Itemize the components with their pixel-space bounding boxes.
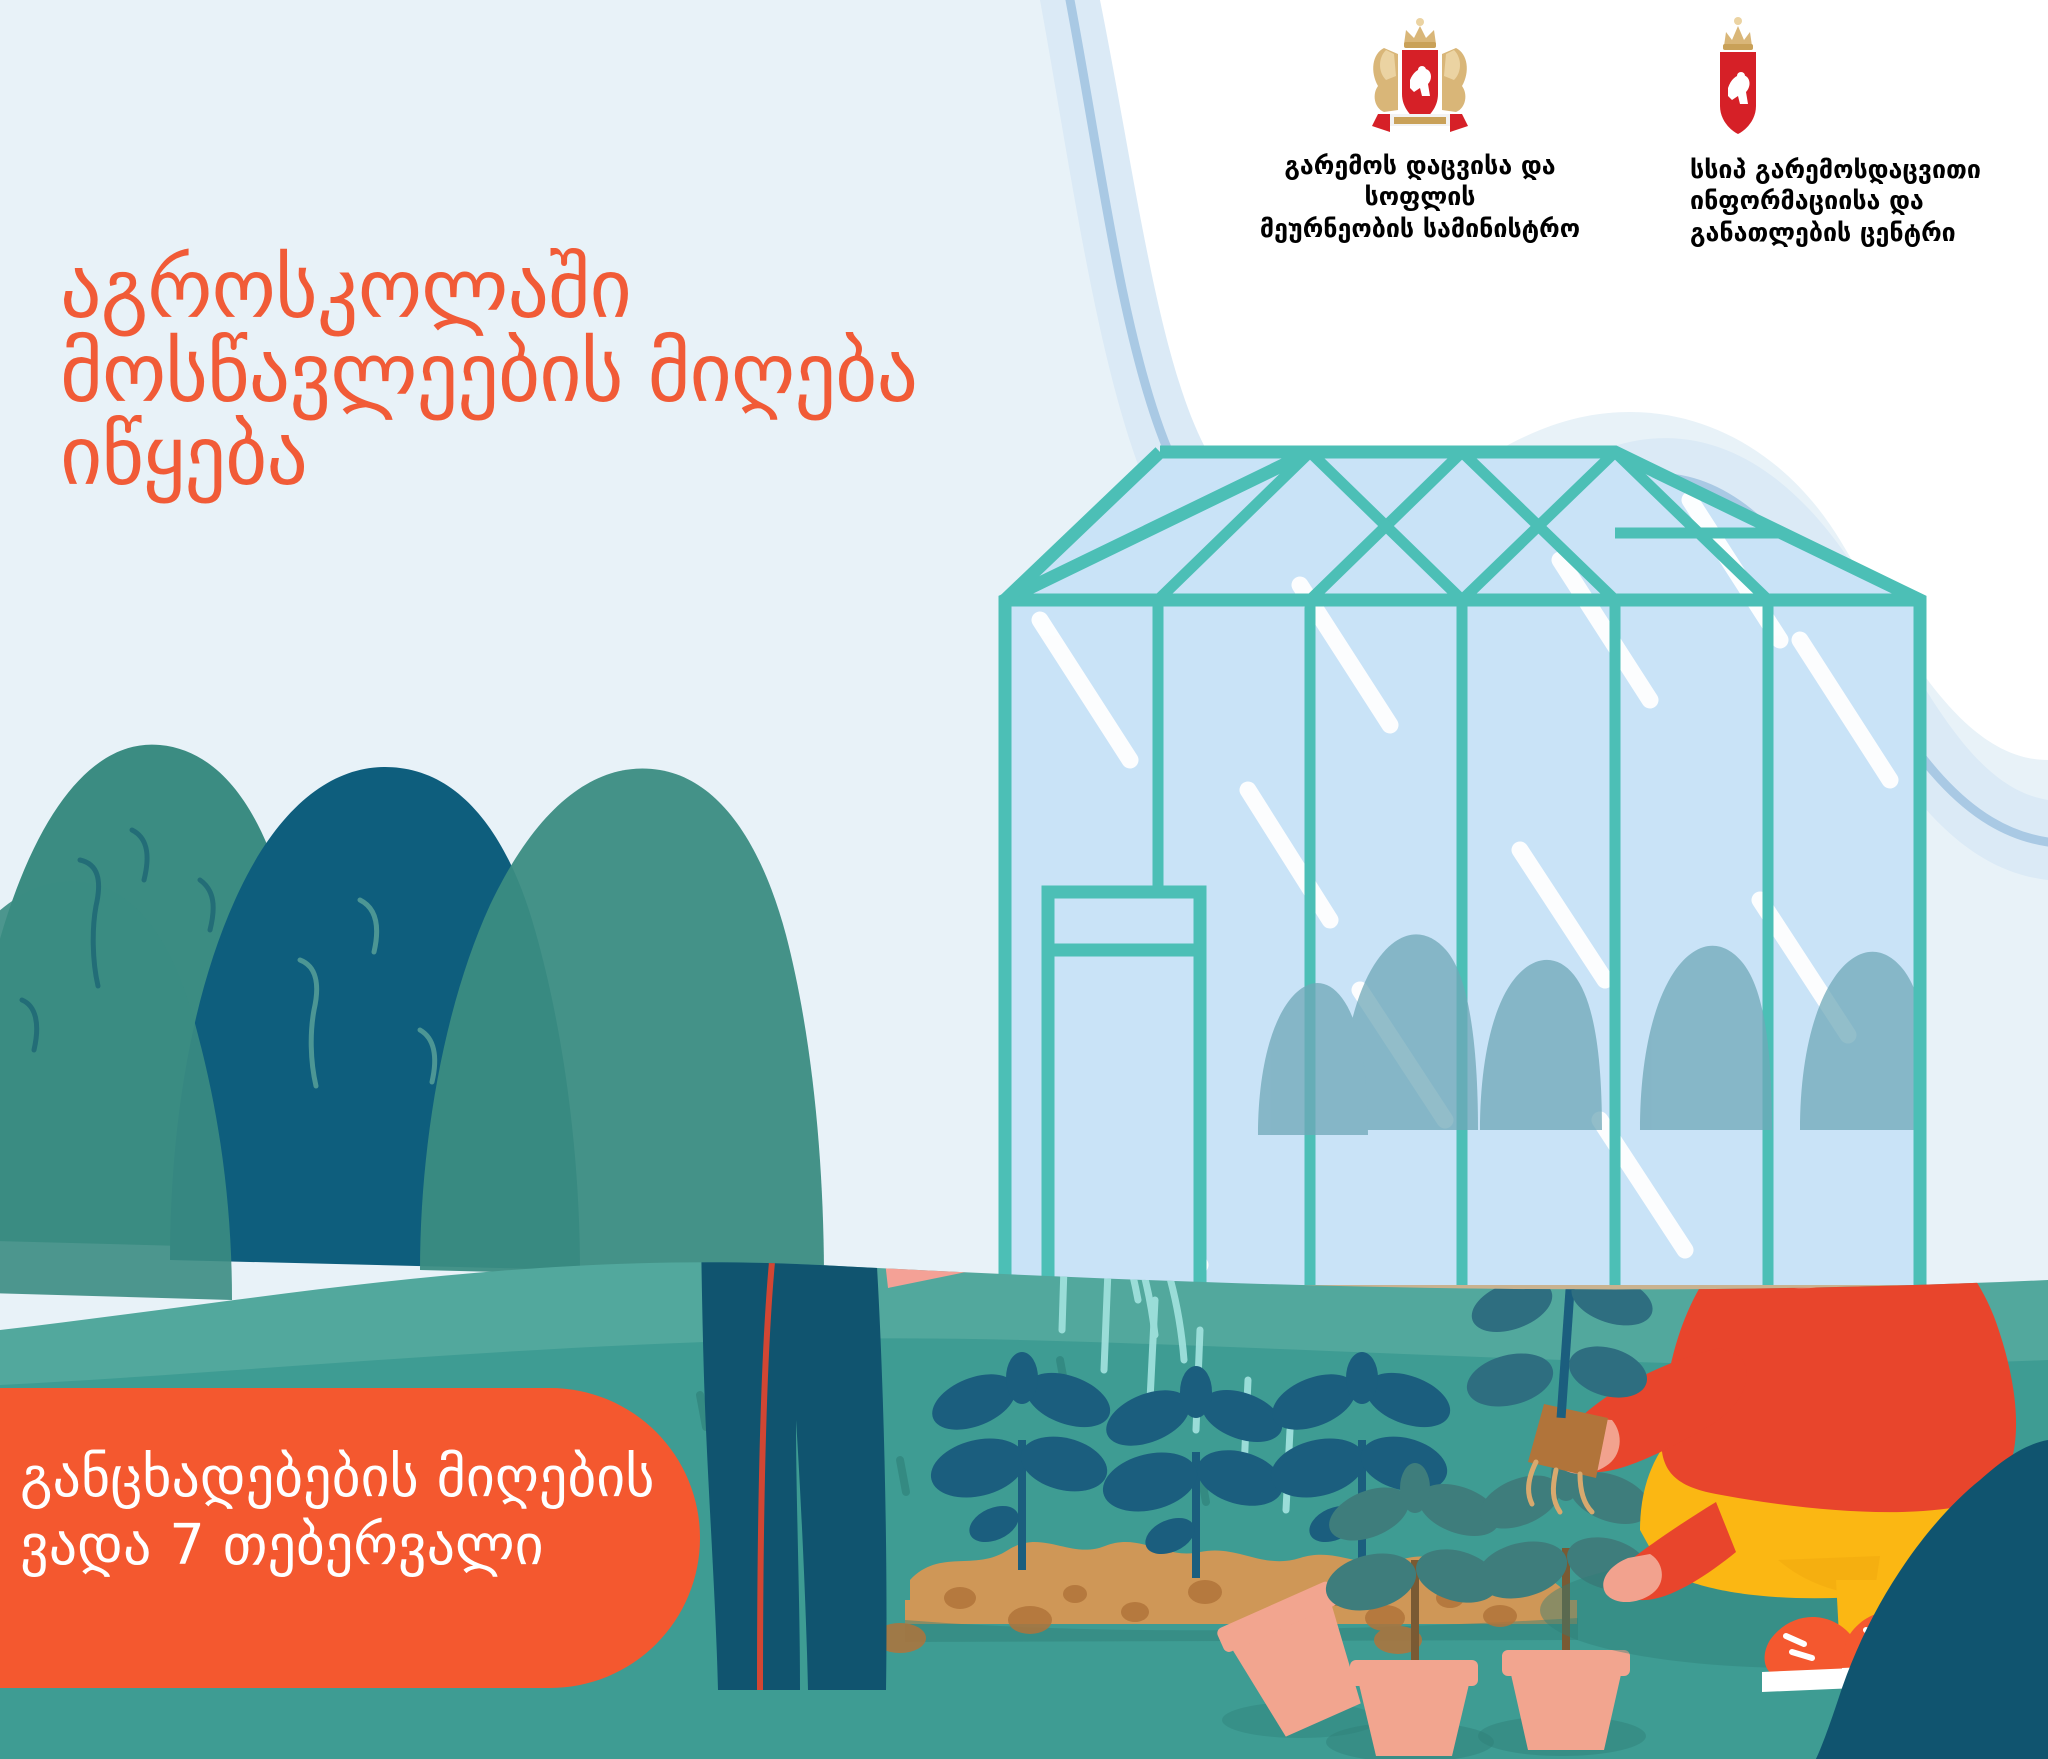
- logo-caption-ministry: გარემოს დაცვისა და სოფლის მეურნეობის სამ…: [1240, 150, 1600, 244]
- georgia-coat-of-arms-full-icon: [1364, 14, 1476, 142]
- badge-line-2: ვადა 7 თებერვალი: [20, 1512, 630, 1580]
- badge-line-1: განცხადებების მიღების: [20, 1444, 630, 1512]
- deadline-badge: განცხადებების მიღების ვადა 7 თებერვალი: [0, 1388, 700, 1688]
- headline-line-1: აგროსკოლაში: [60, 248, 1060, 332]
- page-title: აგროსკოლაში მოსწავლეების მიღება იწყება: [60, 248, 1060, 499]
- georgia-shield-crown-icon: [1704, 14, 1772, 144]
- conifer-trees-left: [0, 745, 824, 1300]
- logo-block-ministry: გარემოს დაცვისა და სოფლის მეურნეობის სამ…: [1240, 14, 1600, 244]
- greenhouse: [1005, 452, 1932, 1327]
- poster-canvas: გარემოს დაცვისა და სოფლის მეურნეობის სამ…: [0, 0, 2048, 1759]
- logo-block-center: სსიპ გარემოსდაცვითი ინფორმაციისა და განა…: [1690, 14, 2020, 248]
- headline-line-3: იწყება: [60, 415, 1060, 499]
- headline-line-2: მოსწავლეების მიღება: [60, 332, 1060, 416]
- greenhouse-door: [1048, 892, 1200, 1310]
- logo-caption-center: სსიპ გარემოსდაცვითი ინფორმაციისა და განა…: [1690, 154, 2020, 248]
